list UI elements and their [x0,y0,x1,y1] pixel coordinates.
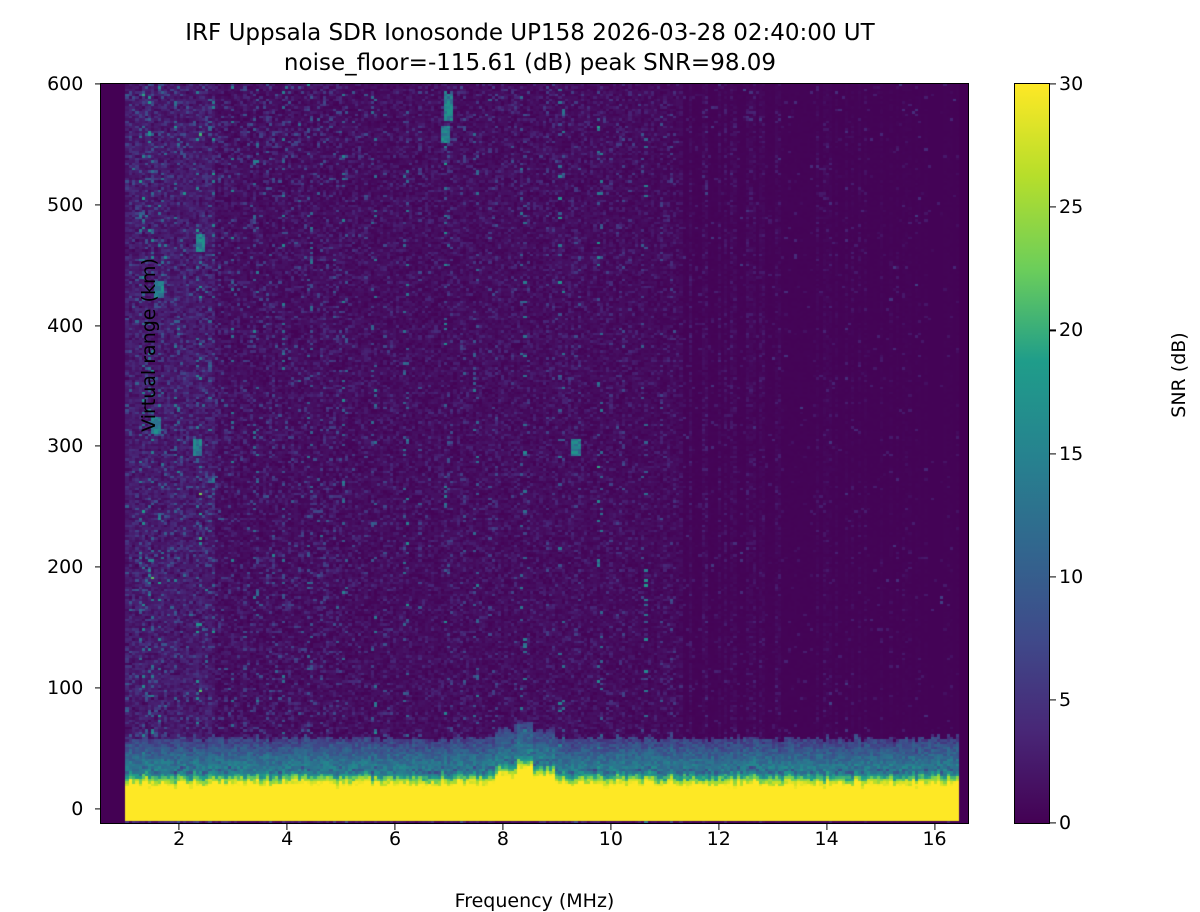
colorbar-tick-label: 5 [1059,689,1071,711]
x-tick-label: 2 [173,828,185,850]
x-tick-label: 14 [815,828,839,850]
colorbar-tick-label: 0 [1059,812,1071,834]
y-tick-label: 200 [47,556,92,578]
y-tick-mark [95,446,102,447]
colorbar-tick-mark [1049,207,1056,208]
colorbar-tick-label: 20 [1059,319,1083,341]
x-tick-label: 6 [389,828,401,850]
y-tick-label: 400 [47,315,92,337]
colorbar-tick-label: 25 [1059,196,1083,218]
colorbar-gradient [1015,84,1049,823]
colorbar-tick-mark [1049,576,1056,577]
colorbar-tick-mark [1049,453,1056,454]
y-tick-mark [95,83,102,84]
colorbar-label: SNR (dB) [1168,285,1190,465]
colorbar-tick-label: 15 [1059,443,1083,465]
x-tick-label: 4 [281,828,293,850]
x-tick-label: 8 [497,828,509,850]
figure-title: IRF Uppsala SDR Ionosonde UP158 2026-03-… [0,18,1060,78]
y-tick-mark [95,325,102,326]
x-tick-label: 12 [707,828,731,850]
colorbar-tick-label: 30 [1059,73,1083,95]
y-axis-label: Virtual range (km) [138,225,160,465]
ionogram-plot-area[interactable]: Virtual range (km) Frequency (MHz) 01002… [100,83,969,824]
y-tick-label: 500 [47,194,92,216]
colorbar-tick-mark [1049,699,1056,700]
colorbar-tick-mark [1049,83,1056,84]
y-tick-mark [95,808,102,809]
title-line-1: IRF Uppsala SDR Ionosonde UP158 2026-03-… [185,20,874,46]
x-tick-label: 16 [922,828,946,850]
y-tick-mark [95,204,102,205]
colorbar-tick-mark [1049,330,1056,331]
y-tick-mark [95,566,102,567]
ionogram-heatmap [101,84,968,823]
colorbar-tick-label: 10 [1059,566,1083,588]
y-tick-label: 0 [71,798,92,820]
x-tick-label: 10 [599,828,623,850]
ionogram-figure: IRF Uppsala SDR Ionosonde UP158 2026-03-… [0,0,1200,900]
y-tick-label: 100 [47,677,92,699]
y-tick-mark [95,687,102,688]
y-tick-label: 600 [47,73,92,95]
colorbar-tick-mark [1049,822,1056,823]
y-tick-label: 300 [47,435,92,457]
colorbar[interactable]: SNR (dB) 051015202530 [1014,83,1050,824]
x-axis-label: Frequency (MHz) [101,890,968,912]
title-line-2: noise_floor=-115.61 (dB) peak SNR=98.09 [0,48,1060,78]
